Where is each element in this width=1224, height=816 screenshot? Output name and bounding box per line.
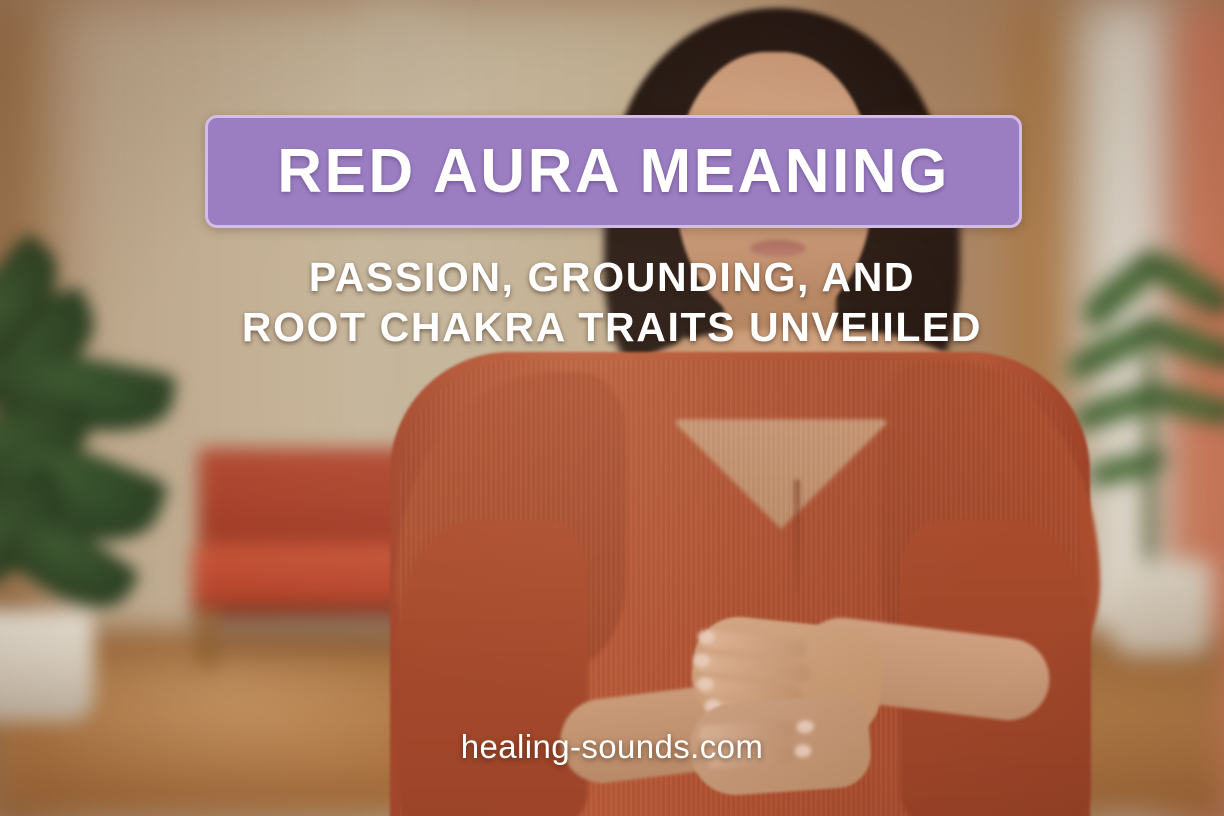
site-url-watermark: healing-sounds.com: [0, 728, 1224, 766]
sleeve-left: [398, 520, 588, 816]
title-text: RED AURA MEANING: [277, 141, 950, 203]
subtitle-line-1: PASSION, GROUNDING, AND: [0, 252, 1224, 302]
subtitle-block: PASSION, GROUNDING, AND ROOT CHAKRA TRAI…: [0, 252, 1224, 352]
subtitle-line-2: ROOT CHAKRA TRAITS UNVEIILED: [0, 302, 1224, 352]
title-banner: RED AURA MEANING: [205, 115, 1022, 228]
hero-image-canvas: RED AURA MEANING PASSION, GROUNDING, AND…: [0, 0, 1224, 816]
